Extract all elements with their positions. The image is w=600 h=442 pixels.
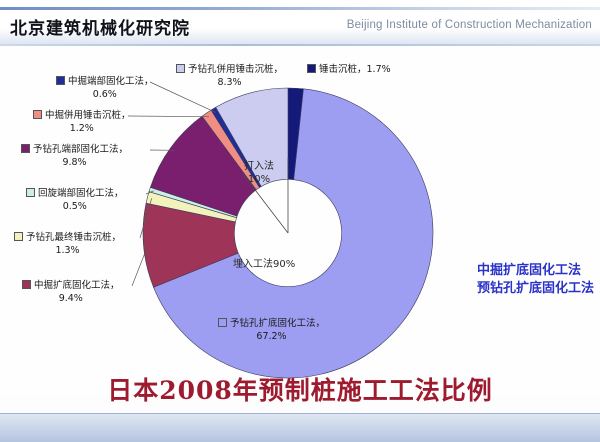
callout-chuiji-chenzhuang: 锤击沉桩，1.7% bbox=[307, 63, 391, 76]
swatch-yuzuankong-zuizhong bbox=[14, 232, 23, 241]
callout-yuzuankong-kuodi-label: 予钻孔扩底固化工法， bbox=[230, 318, 325, 329]
callout-huixuan-duanbu-pct: 0.5% bbox=[26, 200, 124, 213]
leader-line bbox=[128, 116, 209, 117]
callout-yuzuankong-zuizhong-pct: 1.3% bbox=[14, 244, 121, 257]
swatch-zhongjue-chuiji bbox=[33, 110, 42, 119]
leader-line bbox=[132, 245, 148, 286]
swatch-huixuan-duanbu bbox=[26, 188, 35, 197]
inner-label-driven-text: 打入法 bbox=[244, 161, 274, 172]
header-top-rule bbox=[0, 7, 600, 10]
callout-zhongjue-kuodi-pct: 9.4% bbox=[22, 292, 120, 305]
swatch-chuiji-chenzhuang bbox=[307, 64, 316, 73]
inner-label-driven: 打入法 10% bbox=[244, 160, 274, 186]
callout-huixuan-duanbu-label: 回旋端部固化工法， bbox=[38, 188, 124, 199]
callout-zhongjue-duanbu-pct: 0.6% bbox=[56, 88, 154, 101]
callout-yuzuankong-kuodi-pct: 67.2% bbox=[218, 330, 325, 343]
swatch-yuzuankong-duanbu bbox=[21, 144, 30, 153]
callout-zhongjue-chuiji: 中掘併用锤击沉桩， 1.2% bbox=[33, 109, 131, 135]
inner-label-embedded: 埋入工法90% bbox=[233, 258, 295, 271]
callout-zhongjue-kuodi: 中掘扩底固化工法， 9.4% bbox=[22, 279, 120, 305]
callout-zhongjue-duanbu: 中掘端部固化工法， 0.6% bbox=[56, 75, 154, 101]
swatch-zhongjue-kuodi bbox=[22, 280, 31, 289]
slide-footer bbox=[0, 414, 600, 442]
swatch-zhongjue-duanbu bbox=[56, 76, 65, 85]
slide-header: 北京建筑机械化研究院 Beijing Institute of Construc… bbox=[0, 0, 600, 46]
callout-zhongjue-duanbu-label: 中掘端部固化工法， bbox=[68, 76, 154, 87]
swatch-yuzuankong-bingyong bbox=[176, 64, 185, 73]
callout-yuzuankong-bingyong-pct: 8.3% bbox=[176, 76, 283, 89]
callout-yuzuankong-zuizhong-label: 予钻孔最终锤击沉桩， bbox=[26, 232, 121, 243]
brand-name-chinese: 北京建筑机械化研究院 bbox=[10, 14, 190, 39]
blue-annotation-line2: 预钻孔扩底固化工法 bbox=[477, 280, 594, 298]
brand-name-english: Beijing Institute of Construction Mechan… bbox=[347, 19, 592, 31]
callout-yuzuankong-zuizhong: 予钻孔最终锤击沉桩， 1.3% bbox=[14, 231, 121, 257]
callout-zhongjue-chuiji-pct: 1.2% bbox=[33, 122, 131, 135]
callout-zhongjue-chuiji-label: 中掘併用锤击沉桩， bbox=[45, 110, 131, 121]
blue-annotation-line1: 中掘扩底固化工法 bbox=[477, 262, 594, 280]
callout-chuiji-chenzhuang-label: 锤击沉桩， bbox=[319, 64, 367, 75]
callout-yuzuankong-duanbu-label: 予钻孔端部固化工法， bbox=[33, 144, 128, 155]
callout-yuzuankong-bingyong-label: 予钻孔併用锤击沉桩， bbox=[188, 64, 283, 75]
blue-annotation: 中掘扩底固化工法 预钻孔扩底固化工法 bbox=[477, 262, 594, 298]
chart-area: 打入法 10% 埋入工法90% 中掘端部固化工法， 0.6% 中掘併用锤击沉桩，… bbox=[0, 46, 600, 396]
slide-canvas: 北京建筑机械化研究院 Beijing Institute of Construc… bbox=[0, 0, 600, 442]
callout-zhongjue-kuodi-label: 中掘扩底固化工法， bbox=[34, 280, 120, 291]
page-title: 日本2008年预制桩施工工法比例 bbox=[0, 371, 600, 407]
callout-huixuan-duanbu: 回旋端部固化工法， 0.5% bbox=[26, 187, 124, 213]
callout-yuzuankong-duanbu: 予钻孔端部固化工法， 9.8% bbox=[21, 143, 128, 169]
swatch-yuzuankong-kuodi bbox=[218, 318, 227, 327]
callout-chuiji-chenzhuang-pct: 1.7% bbox=[367, 64, 391, 75]
callout-yuzuankong-kuodi: 予钻孔扩底固化工法， 67.2% bbox=[218, 317, 325, 343]
callout-yuzuankong-duanbu-pct: 9.8% bbox=[21, 156, 128, 169]
inner-label-driven-pct: 10% bbox=[248, 174, 270, 185]
callout-yuzuankong-bingyong: 予钻孔併用锤击沉桩， 8.3% bbox=[176, 63, 283, 89]
